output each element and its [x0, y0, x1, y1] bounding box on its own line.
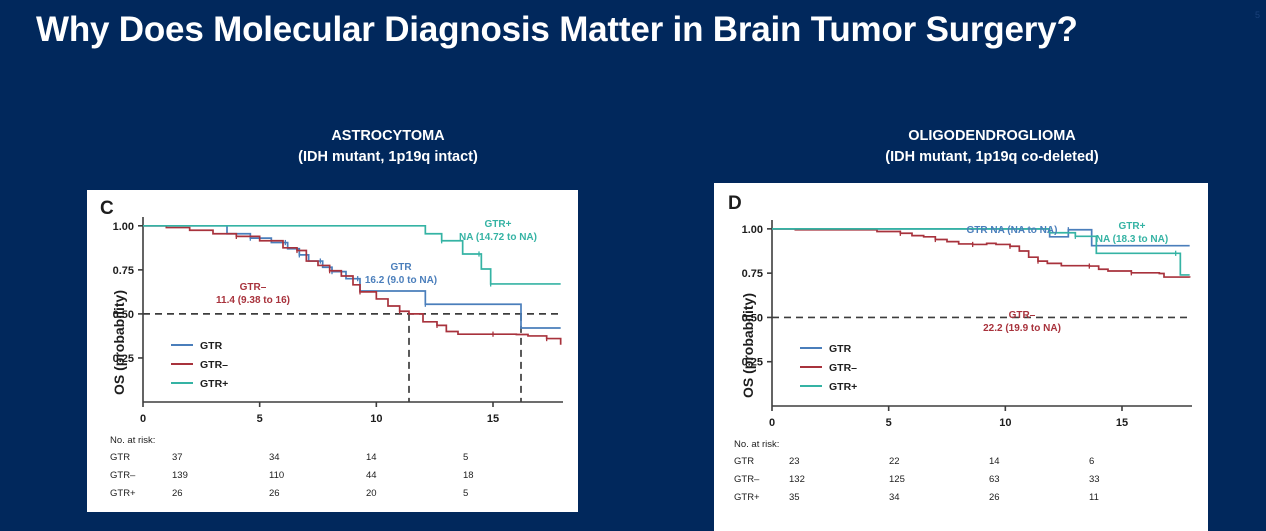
risk-cell: 37 [172, 452, 269, 463]
svg-text:0.75: 0.75 [113, 265, 134, 277]
risk-cell: 18 [463, 470, 560, 481]
risk-row-label: GTR [110, 452, 172, 463]
risk-cell: 34 [269, 452, 366, 463]
risk-cell: 34 [889, 492, 989, 503]
panel-heading-astrocytoma: ASTROCYTOMA (IDH mutant, 1p19q intact) [178, 126, 598, 168]
survival-plot-panel-d: 0.250.500.751.00051015GTRGTR–GTR+GTR NA … [772, 220, 1192, 406]
risk-cell: 110 [269, 470, 366, 481]
svg-text:1.00: 1.00 [742, 224, 763, 236]
risk-cell: 14 [989, 456, 1089, 467]
svg-text:22.2 (19.9 to NA): 22.2 (19.9 to NA) [983, 323, 1061, 334]
svg-text:11.4 (9.38 to 16): 11.4 (9.38 to 16) [216, 295, 290, 306]
survival-plot-panel-c: 0.250.500.751.00051015GTRGTR–GTR+GTR+NA … [143, 217, 563, 402]
svg-text:0: 0 [140, 413, 146, 425]
svg-text:5: 5 [886, 417, 892, 429]
risk-row: GTR 37 34 14 5 [110, 452, 560, 463]
panel-heading-main: ASTROCYTOMA [331, 128, 444, 144]
risk-cell: 14 [366, 452, 463, 463]
risk-table-title: No. at risk: [110, 435, 560, 446]
risk-cell: 6 [1089, 456, 1189, 467]
slide-root: Why Does Molecular Diagnosis Matter in B… [0, 0, 1266, 531]
risk-table-panel-d: No. at risk: GTR 23 22 14 6 GTR– 132 125… [734, 439, 1189, 510]
svg-text:GTR+: GTR+ [200, 378, 228, 390]
risk-cell: 5 [463, 452, 560, 463]
svg-text:10: 10 [370, 413, 382, 425]
risk-row: GTR– 132 125 63 33 [734, 474, 1189, 485]
risk-row-label: GTR+ [110, 488, 172, 499]
risk-cell: 125 [889, 474, 989, 485]
panel-heading-oligodendroglioma: OLIGODENDROGLIOMA (IDH mutant, 1p19q co-… [782, 126, 1202, 168]
figure-card-panel-d: D OS (probability) Time (years) 0.250.50… [714, 183, 1208, 531]
page-number: 5 [1255, 10, 1260, 20]
svg-text:GTR+: GTR+ [829, 381, 857, 393]
svg-text:GTR+: GTR+ [485, 219, 512, 230]
svg-text:0.25: 0.25 [742, 357, 763, 369]
svg-text:GTR+: GTR+ [1119, 221, 1146, 232]
svg-text:NA (14.72 to NA): NA (14.72 to NA) [459, 232, 537, 243]
risk-cell: 139 [172, 470, 269, 481]
risk-cell: 26 [989, 492, 1089, 503]
risk-cell: 11 [1089, 492, 1189, 503]
risk-cell: 26 [269, 488, 366, 499]
svg-text:GTR: GTR [200, 340, 223, 352]
risk-cell: 132 [789, 474, 889, 485]
svg-text:15: 15 [487, 413, 499, 425]
risk-cell: 22 [889, 456, 989, 467]
risk-row-label: GTR– [110, 470, 172, 481]
svg-text:5: 5 [257, 413, 263, 425]
risk-cell: 33 [1089, 474, 1189, 485]
svg-text:0.75: 0.75 [742, 268, 763, 280]
svg-text:15: 15 [1116, 417, 1128, 429]
figure-card-panel-c: C OS (probability) Time (years) 0.250.50… [87, 190, 578, 512]
svg-text:GTR: GTR [829, 343, 852, 355]
risk-row-label: GTR+ [734, 492, 789, 503]
svg-text:16.2 (9.0 to NA): 16.2 (9.0 to NA) [365, 275, 437, 286]
risk-row: GTR 23 22 14 6 [734, 456, 1189, 467]
risk-row: GTR– 139 110 44 18 [110, 470, 560, 481]
risk-row: GTR+ 26 26 20 5 [110, 488, 560, 499]
risk-cell: 20 [366, 488, 463, 499]
page-title: Why Does Molecular Diagnosis Matter in B… [36, 8, 1196, 52]
risk-row-label: GTR [734, 456, 789, 467]
risk-cell: 44 [366, 470, 463, 481]
risk-cell: 63 [989, 474, 1089, 485]
panel-heading-sub: (IDH mutant, 1p19q intact) [178, 147, 598, 168]
svg-text:0: 0 [769, 417, 775, 429]
svg-text:GTR–: GTR– [240, 282, 267, 293]
risk-cell: 23 [789, 456, 889, 467]
panel-heading-main: OLIGODENDROGLIOMA [908, 128, 1076, 144]
risk-row: GTR+ 35 34 26 11 [734, 492, 1189, 503]
svg-text:10: 10 [999, 417, 1011, 429]
svg-text:NA (18.3 to NA): NA (18.3 to NA) [1096, 234, 1168, 245]
svg-text:GTR NA (NA to NA): GTR NA (NA to NA) [967, 225, 1058, 236]
svg-text:GTR: GTR [390, 262, 412, 273]
panel-heading-sub: (IDH mutant, 1p19q co-deleted) [782, 147, 1202, 168]
risk-cell: 35 [789, 492, 889, 503]
y-axis-title: OS (probability) [111, 290, 127, 395]
panel-letter-c: C [100, 198, 114, 220]
risk-table-title: No. at risk: [734, 439, 1189, 450]
risk-table-panel-c: No. at risk: GTR 37 34 14 5 GTR– 139 110… [110, 435, 560, 506]
svg-text:0.50: 0.50 [113, 309, 134, 321]
risk-cell: 26 [172, 488, 269, 499]
panel-letter-d: D [728, 193, 742, 215]
svg-text:0.25: 0.25 [113, 353, 134, 365]
svg-text:GTR–: GTR– [200, 359, 228, 371]
svg-text:1.00: 1.00 [113, 221, 134, 233]
risk-cell: 5 [463, 488, 560, 499]
y-axis-title: OS (probability) [740, 293, 756, 398]
svg-text:GTR–: GTR– [829, 362, 857, 374]
svg-text:GTR–: GTR– [1009, 310, 1036, 321]
svg-text:0.50: 0.50 [742, 312, 763, 324]
risk-row-label: GTR– [734, 474, 789, 485]
